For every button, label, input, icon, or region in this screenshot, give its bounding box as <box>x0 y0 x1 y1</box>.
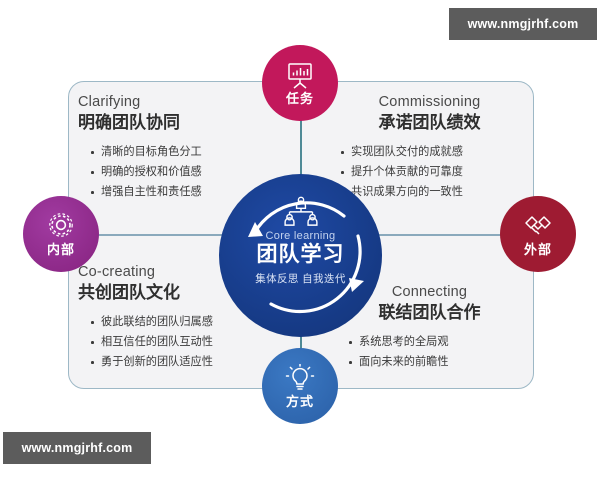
list-item: 相互信任的团队互动性 <box>90 333 293 353</box>
watermark-bottom: www.nmgjrhf.com <box>3 432 151 464</box>
presentation-bar-chart-icon <box>283 61 317 89</box>
satellite-label: 内部 <box>47 243 75 256</box>
quadrant-english-title: Commissioning <box>322 93 537 111</box>
quadrant-chinese-title: 承诺团队绩效 <box>322 112 537 134</box>
watermark-bottom-text: www.nmgjrhf.com <box>22 441 133 455</box>
watermark-top: www.nmgjrhf.com <box>449 8 597 40</box>
list-item: 勇于创新的团队适应性 <box>90 353 293 373</box>
list-item: 提升个体贡献的可靠度 <box>340 163 537 183</box>
core-chinese-label: 团队学习 <box>257 243 345 267</box>
satellite-circle-method[interactable]: 方式 <box>262 348 338 424</box>
core-circle: Core learning 团队学习 集体反思 自我迭代 <box>219 174 382 337</box>
quadrant-top-right: Commissioning 承诺团队绩效 实现团队交付的成就感 提升个体贡献的可… <box>322 93 537 203</box>
quadrant-english-title: Clarifying <box>78 93 293 111</box>
quadrant-bullet-list: 系统思考的全局观 面向未来的前瞻性 <box>348 333 537 373</box>
gear-icon <box>44 212 78 240</box>
list-item: 共识成果方向的一致性 <box>340 183 537 203</box>
list-item: 实现团队交付的成就感 <box>340 143 537 163</box>
core-subtitle: 集体反思 自我迭代 <box>255 271 346 286</box>
watermark-top-text: www.nmgjrhf.com <box>468 17 579 31</box>
quadrant-chinese-title: 明确团队协同 <box>78 112 293 134</box>
list-item: 明确的授权和价值感 <box>90 163 293 183</box>
list-item: 系统思考的全局观 <box>348 333 537 353</box>
core-english-label: Core learning <box>266 230 336 242</box>
satellite-circle-task[interactable]: 任务 <box>262 45 338 121</box>
satellite-circle-internal[interactable]: 内部 <box>23 196 99 272</box>
satellite-circle-external[interactable]: 外部 <box>500 196 576 272</box>
org-chart-people-icon <box>279 196 323 226</box>
satellite-label: 外部 <box>524 243 552 256</box>
lightbulb-icon <box>283 364 317 392</box>
satellite-label: 任务 <box>286 92 314 105</box>
diagram-canvas: www.nmgjrhf.com www.nmgjrhf.com Clarifyi… <box>0 0 600 480</box>
satellite-label: 方式 <box>286 395 314 408</box>
handshake-icon <box>521 212 555 240</box>
quadrant-bullet-list: 实现团队交付的成就感 提升个体贡献的可靠度 共识成果方向的一致性 <box>340 143 537 203</box>
list-item: 清晰的目标角色分工 <box>90 143 293 163</box>
list-item: 面向未来的前瞻性 <box>348 353 537 373</box>
